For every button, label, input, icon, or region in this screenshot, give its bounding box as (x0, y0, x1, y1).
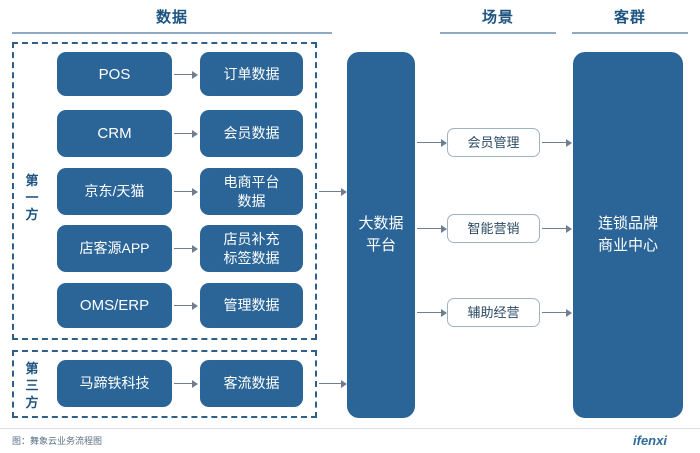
arrow-platform-to-member-mgmt (417, 138, 447, 147)
dataset-box-ecommerce[interactable]: 电商平台 数据 (200, 168, 303, 215)
dataset-box-staff-tag[interactable]: 店员补充 标签数据 (200, 225, 303, 272)
arrow-third-party-to-platform (319, 379, 347, 388)
column-rule-data (12, 32, 332, 34)
arrow-ops-support-to-audience (542, 308, 572, 317)
source-box-dianke-app[interactable]: 店客源APP (57, 225, 172, 272)
figure-caption: 图：舞象云业务流程图 (12, 435, 102, 447)
arrow-smart-marketing-to-audience (542, 224, 572, 233)
dataset-box-order[interactable]: 订单数据 (200, 52, 303, 96)
dataset-box-management[interactable]: 管理数据 (200, 283, 303, 328)
arrow-member-mgmt-to-audience (542, 138, 572, 147)
column-header-data: 数据 (12, 8, 332, 28)
source-box-matieties[interactable]: 马蹄铁科技 (57, 360, 172, 407)
dataset-box-member[interactable]: 会员数据 (200, 110, 303, 157)
source-box-crm[interactable]: CRM (57, 110, 172, 157)
scene-box-smart-marketing[interactable]: 智能营销 (447, 214, 540, 243)
source-box-jd-tmall[interactable]: 京东/天猫 (57, 168, 172, 215)
footer-divider (0, 428, 700, 429)
scene-box-member-management[interactable]: 会员管理 (447, 128, 540, 157)
audience-box-chain-brand[interactable]: 连锁品牌 商业中心 (573, 52, 683, 418)
column-header-audience: 客群 (572, 8, 688, 28)
group-label-first-party: 第一方 (22, 172, 42, 223)
platform-box-big-data[interactable]: 大数据 平台 (347, 52, 415, 418)
column-rule-audience (572, 32, 688, 34)
arrow-platform-to-smart-marketing (417, 224, 447, 233)
arrow-first-party-to-platform (319, 187, 347, 196)
source-box-pos[interactable]: POS (57, 52, 172, 96)
dataset-box-traffic[interactable]: 客流数据 (200, 360, 303, 407)
arrow-platform-to-ops-support (417, 308, 447, 317)
ifenxi-logo: ifenxi (633, 433, 667, 449)
column-rule-scene (440, 32, 556, 34)
group-label-third-party: 第三方 (22, 360, 42, 411)
scene-box-operations-support[interactable]: 辅助经营 (447, 298, 540, 327)
column-header-scene: 场景 (440, 8, 556, 28)
source-box-oms-erp[interactable]: OMS/ERP (57, 283, 172, 328)
business-flow-diagram: 数据 场景 客群 第一方 第三方 POS CRM 京东/天猫 店客源APP OM… (0, 0, 700, 453)
